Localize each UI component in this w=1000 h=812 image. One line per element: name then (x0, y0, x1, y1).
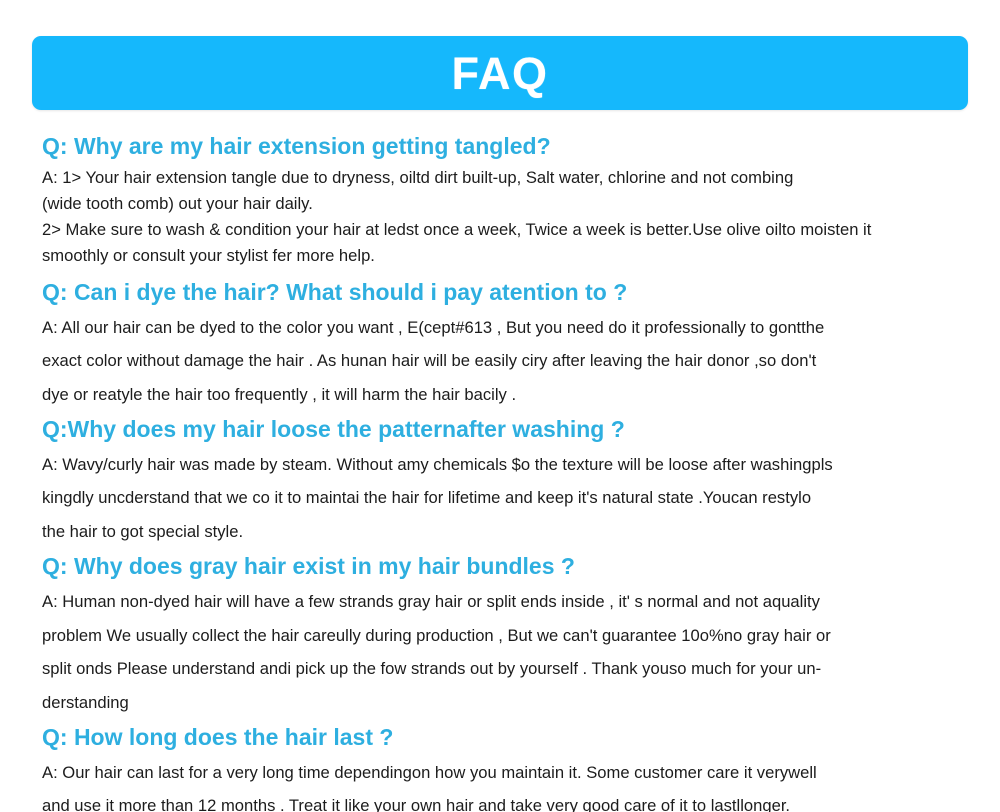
faq-item: Q: Why does gray hair exist in my hair b… (42, 552, 968, 719)
faq-answer: A: Our hair can last for a very long tim… (42, 756, 968, 812)
answer-line: the hair to got special style. (42, 515, 968, 549)
faq-answer: A: All our hair can be dyed to the color… (42, 311, 968, 412)
faq-item: Q:Why does my hair loose the patternafte… (42, 415, 968, 548)
faq-question: Q:Why does my hair loose the patternafte… (42, 415, 968, 444)
faq-answer: A: Wavy/curly hair was made by steam. Wi… (42, 448, 968, 549)
faq-question: Q: How long does the hair last ? (42, 723, 968, 752)
faq-question: Q: Why does gray hair exist in my hair b… (42, 552, 968, 581)
faq-item: Q: How long does the hair last ? A: Our … (42, 723, 968, 812)
answer-line: A: Our hair can last for a very long tim… (42, 756, 968, 790)
spacer (42, 269, 968, 278)
answer-line: 2> Make sure to wash & condition your ha… (42, 217, 968, 243)
answer-line: A: Wavy/curly hair was made by steam. Wi… (42, 448, 968, 482)
answer-line: A: Human non-dyed hair will have a few s… (42, 585, 968, 619)
faq-list: Q: Why are my hair extension getting tan… (42, 132, 968, 812)
answer-line: and use it more than 12 months . Treat i… (42, 789, 968, 812)
faq-question: Q: Can i dye the hair? What should i pay… (42, 278, 968, 307)
faq-item: Q: Why are my hair extension getting tan… (42, 132, 968, 269)
answer-line: smoothly or consult your stylist fer mor… (42, 243, 968, 269)
answer-line: kingdly uncderstand that we co it to mai… (42, 481, 968, 515)
answer-line: exact color without damage the hair . As… (42, 344, 968, 378)
answer-line: problem We usually collect the hair care… (42, 619, 968, 653)
answer-line: A: All our hair can be dyed to the color… (42, 311, 968, 345)
faq-banner: FAQ (32, 36, 968, 110)
answer-line: split onds Please understand andi pick u… (42, 652, 968, 686)
answer-line: derstanding (42, 686, 968, 720)
faq-answer: A: Human non-dyed hair will have a few s… (42, 585, 968, 719)
faq-page: FAQ Q: Why are my hair extension getting… (0, 0, 1000, 812)
faq-question: Q: Why are my hair extension getting tan… (42, 132, 968, 161)
answer-line: dye or reatyle the hair too frequently ,… (42, 378, 968, 412)
answer-line: A: 1> Your hair extension tangle due to … (42, 165, 968, 191)
answer-line: (wide tooth comb) out your hair daily. (42, 191, 968, 217)
faq-answer: A: 1> Your hair extension tangle due to … (42, 165, 968, 269)
page-title: FAQ (451, 51, 548, 96)
faq-item: Q: Can i dye the hair? What should i pay… (42, 278, 968, 411)
